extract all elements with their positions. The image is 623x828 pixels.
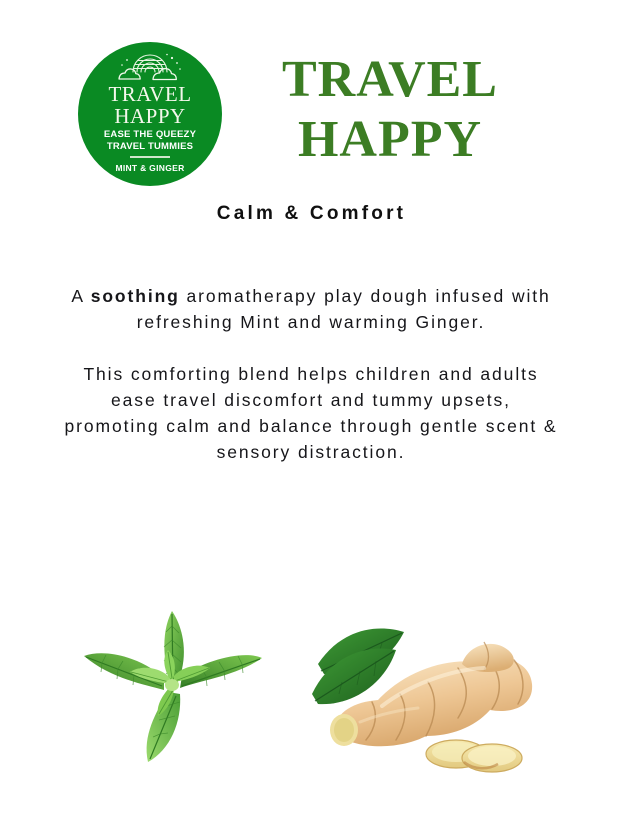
rainbow-clouds-sparkles-icon xyxy=(78,51,222,85)
logo-wordmark-line1: TRAVEL xyxy=(108,82,191,106)
logo-tagline: EASE THE QUEEZY TRAVEL TUMMIES xyxy=(78,129,222,153)
product-description: A soothing aromatherapy play dough infus… xyxy=(61,283,561,465)
header-section: TRAVEL HAPPY EASE THE QUEEZY TRAVEL TUMM… xyxy=(0,42,623,187)
logo-tagline-line1: EASE THE QUEEZY xyxy=(104,129,196,140)
description-paragraph-1: A soothing aromatherapy play dough infus… xyxy=(61,283,561,335)
ingredient-illustrations xyxy=(0,598,623,788)
description-paragraph-2: This comforting blend helps children and… xyxy=(61,361,561,465)
logo-wordmark: TRAVEL HAPPY xyxy=(78,84,222,127)
page-title-line2: HAPPY xyxy=(240,110,540,170)
logo-wordmark-line2: HAPPY xyxy=(78,106,222,127)
logo-variant-label: MINT & GINGER xyxy=(78,163,222,173)
paragraph1-prefix: A xyxy=(71,286,90,306)
logo-divider xyxy=(130,156,170,158)
brand-logo-badge: TRAVEL HAPPY EASE THE QUEEZY TRAVEL TUMM… xyxy=(78,42,222,186)
logo-tagline-line2: TRAVEL TUMMIES xyxy=(107,141,193,152)
page-subtitle: Calm & Comfort xyxy=(0,203,623,225)
paragraph1-emphasis: soothing xyxy=(91,286,180,306)
ginger-root-illustration xyxy=(308,610,540,778)
mint-leaves-illustration xyxy=(72,606,270,766)
page-title-line1: TRAVEL xyxy=(240,50,540,110)
paragraph1-rest: aromatherapy play dough infused with ref… xyxy=(137,286,551,332)
page-title: TRAVEL HAPPY xyxy=(240,50,540,170)
